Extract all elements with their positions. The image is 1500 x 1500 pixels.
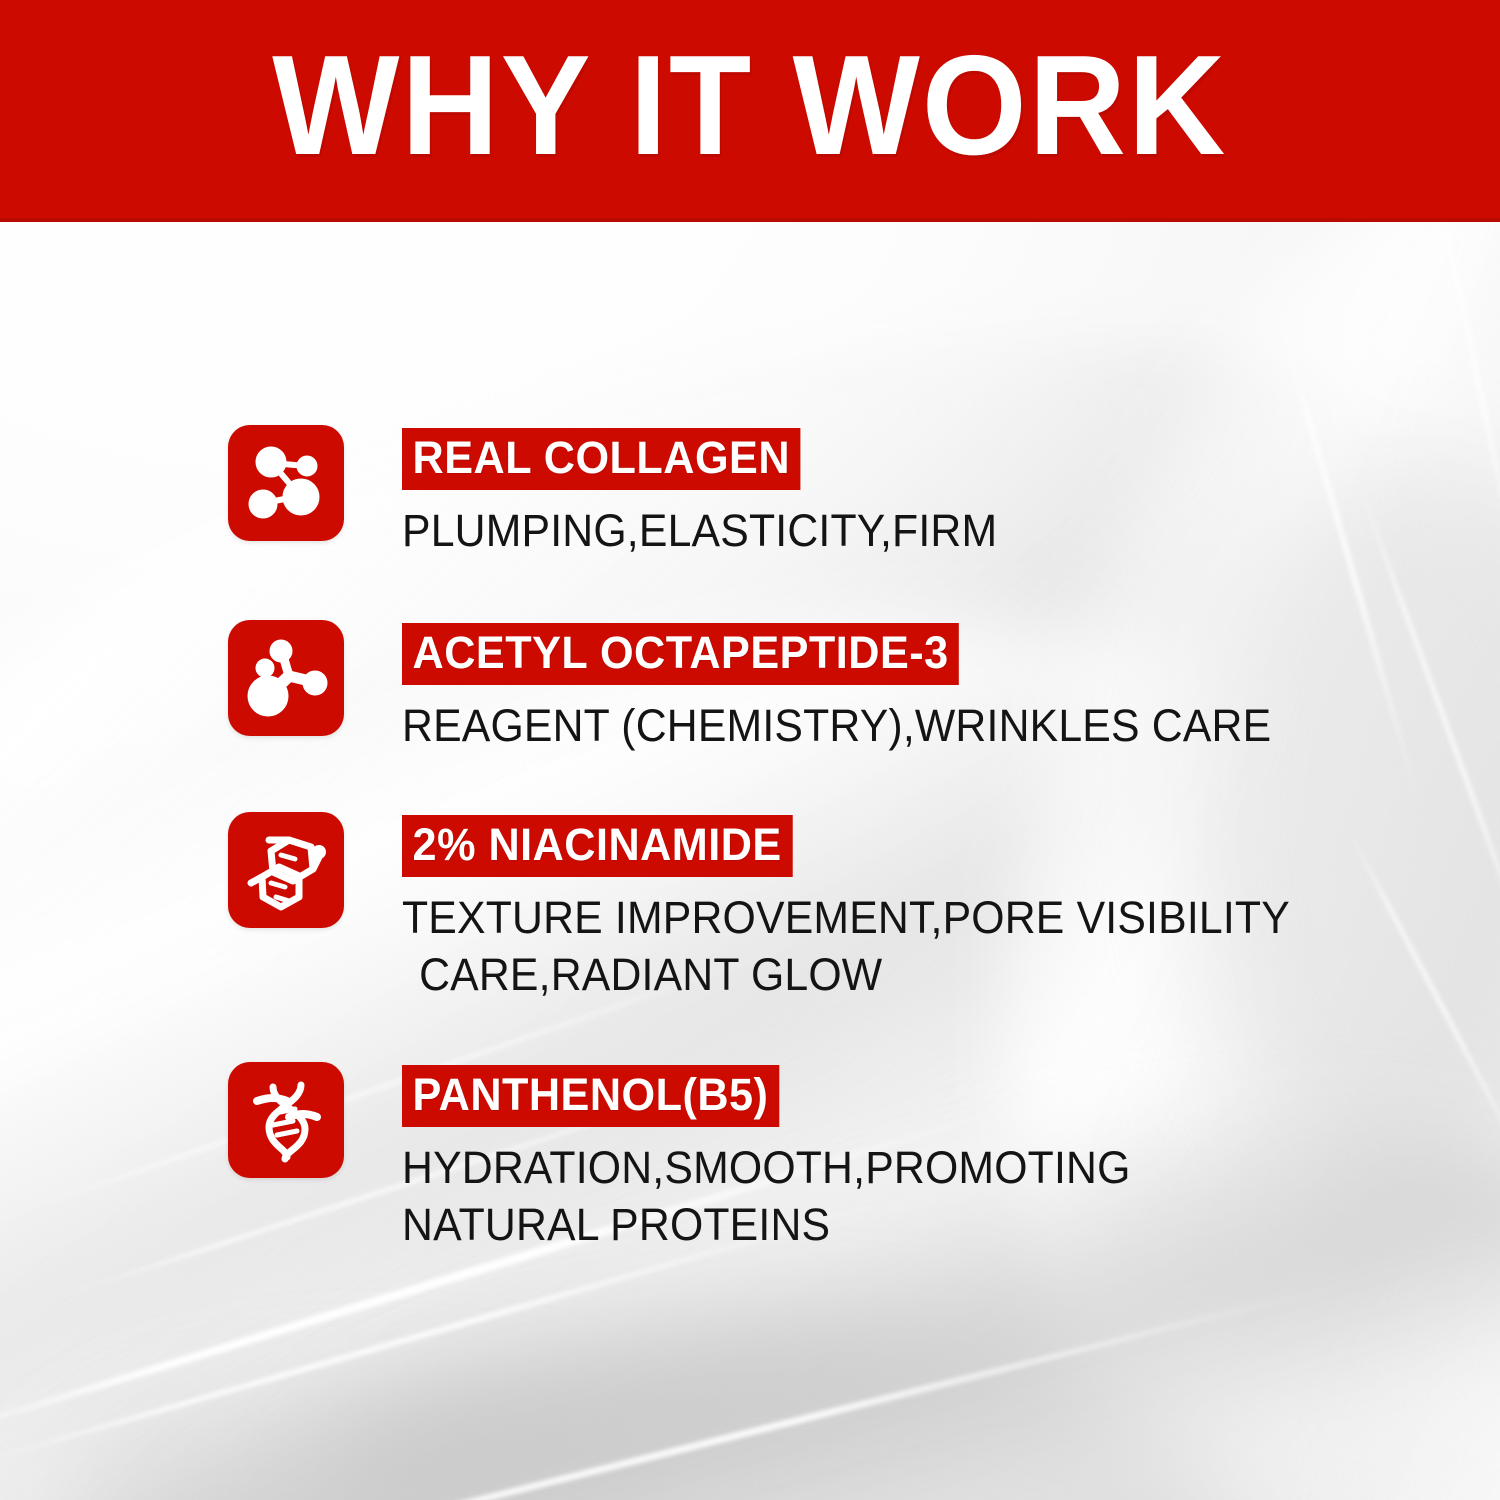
feature-description-line: TEXTURE IMPROVEMENT,PORE VISIBILITY bbox=[402, 889, 1290, 946]
feature-description: TEXTURE IMPROVEMENT,PORE VISIBILITY CARE… bbox=[402, 889, 1290, 1003]
peptide-molecule-icon bbox=[228, 620, 344, 736]
dna-helix-icon bbox=[228, 1062, 344, 1178]
feature-text-block: REAL COLLAGEN PLUMPING,ELASTICITY,FIRM bbox=[402, 425, 1029, 559]
feature-title: PANTHENOL(B5) bbox=[402, 1065, 779, 1127]
page-title: WHY IT WORK bbox=[272, 35, 1227, 183]
molecule-icon bbox=[228, 425, 344, 541]
feature-title: ACETYL OCTAPEPTIDE-3 bbox=[402, 623, 959, 685]
feature-description-line: PLUMPING,ELASTICITY,FIRM bbox=[402, 502, 997, 559]
feature-description: REAGENT (CHEMISTRY),WRINKLES CARE bbox=[402, 697, 1271, 754]
feature-description-line: REAGENT (CHEMISTRY),WRINKLES CARE bbox=[402, 697, 1271, 754]
feature-item-niacinamide: 2% NIACINAMIDE TEXTURE IMPROVEMENT,PORE … bbox=[228, 812, 1337, 1003]
feature-text-block: 2% NIACINAMIDE TEXTURE IMPROVEMENT,PORE … bbox=[402, 812, 1337, 1003]
benzene-ring-icon bbox=[228, 812, 344, 928]
feature-text-block: ACETYL OCTAPEPTIDE-3 REAGENT (CHEMISTRY)… bbox=[402, 620, 1317, 754]
feature-item-acetyl-octapeptide-3: ACETYL OCTAPEPTIDE-3 REAGENT (CHEMISTRY)… bbox=[228, 620, 1317, 754]
feature-description-line: CARE,RADIANT GLOW bbox=[402, 946, 1290, 1003]
feature-item-panthenol: PANTHENOL(B5) HYDRATION,SMOOTH,PROMOTING… bbox=[228, 1062, 1169, 1253]
feature-text-block: PANTHENOL(B5) HYDRATION,SMOOTH,PROMOTING… bbox=[402, 1062, 1169, 1253]
feature-item-real-collagen: REAL COLLAGEN PLUMPING,ELASTICITY,FIRM bbox=[228, 425, 1029, 559]
why-it-works-infographic: WHY IT WORK REAL CO bbox=[0, 0, 1500, 1500]
feature-title: REAL COLLAGEN bbox=[402, 428, 801, 490]
feature-title: 2% NIACINAMIDE bbox=[402, 815, 792, 877]
feature-description: PLUMPING,ELASTICITY,FIRM bbox=[402, 502, 997, 559]
feature-description-line: NATURAL PROTEINS bbox=[402, 1196, 1131, 1253]
feature-description-line: HYDRATION,SMOOTH,PROMOTING bbox=[402, 1139, 1131, 1196]
header-banner: WHY IT WORK bbox=[0, 0, 1500, 222]
feature-description: HYDRATION,SMOOTH,PROMOTING NATURAL PROTE… bbox=[402, 1139, 1131, 1253]
